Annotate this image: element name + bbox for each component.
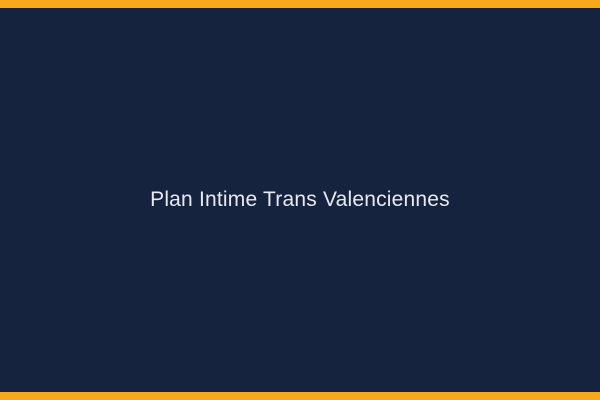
placeholder-banner: Plan Intime Trans Valenciennes [0, 0, 600, 400]
banner-stage: Plan Intime Trans Valenciennes [0, 8, 600, 392]
top-accent-bar [0, 0, 600, 8]
banner-title: Plan Intime Trans Valenciennes [126, 186, 474, 213]
bottom-accent-bar [0, 392, 600, 400]
